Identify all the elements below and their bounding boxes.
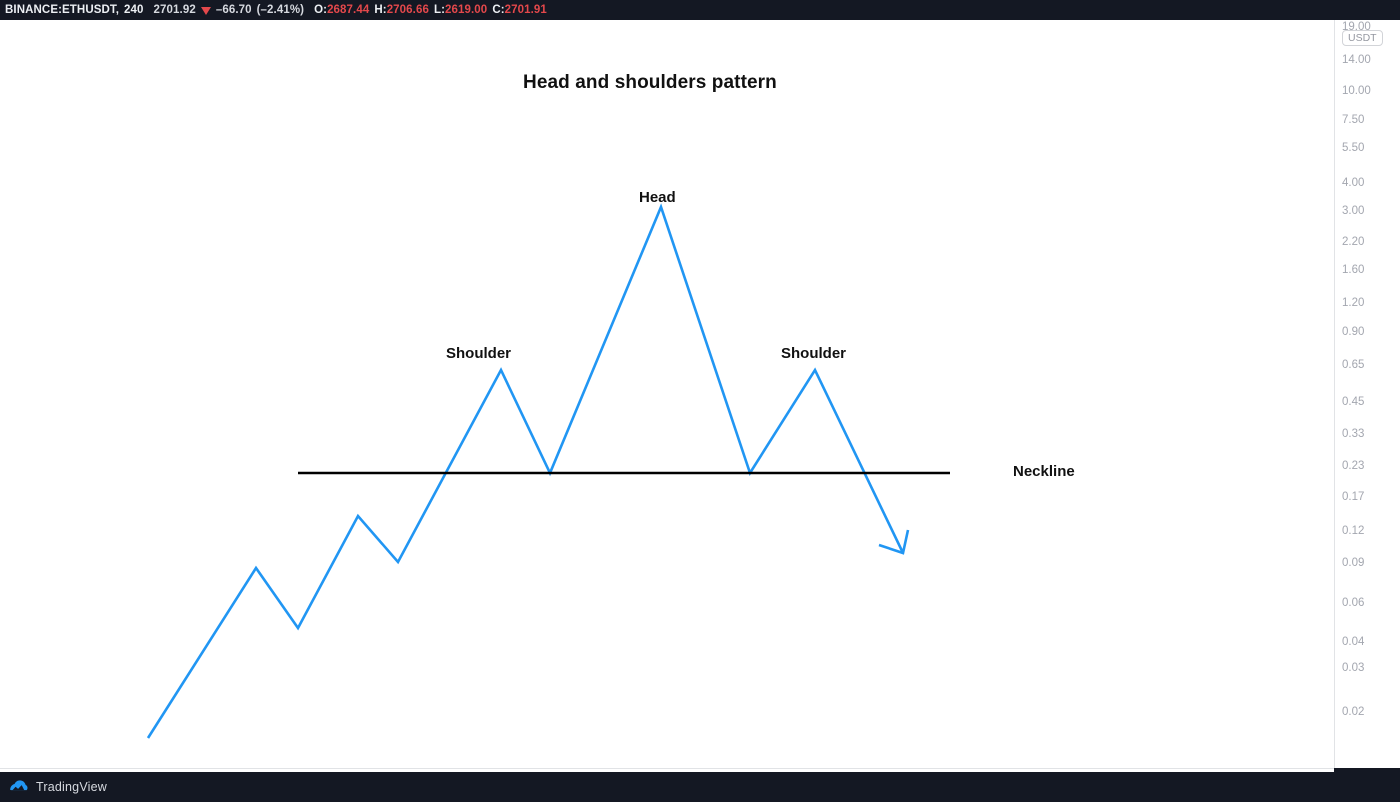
price-tick: 0.04: [1342, 636, 1364, 648]
price-tick: 0.65: [1342, 359, 1364, 371]
price-tick: 0.09: [1342, 557, 1364, 569]
chart-plot-area[interactable]: Head and shoulders pattern Head Shoulder…: [0, 20, 1334, 768]
price-tick: 5.50: [1342, 142, 1364, 154]
interval-label[interactable]: 240: [124, 4, 144, 16]
price-tick: 0.33: [1342, 428, 1364, 440]
price-tick: 0.17: [1342, 491, 1364, 503]
low-value: 2619.00: [445, 4, 487, 16]
pattern-drawing-svg: [0, 20, 1334, 768]
neckline-label: Neckline: [1013, 463, 1075, 480]
down-triangle-icon: [201, 7, 211, 15]
price-tick: 10.00: [1342, 85, 1371, 97]
price-tick: 14.00: [1342, 54, 1371, 66]
last-price: 2701.92: [154, 4, 196, 16]
head-label: Head: [639, 189, 676, 206]
symbol-legend-bar: BINANCE:ETHUSDT, 240 2701.92 –66.70 (–2.…: [0, 0, 1400, 20]
close-key: C:: [492, 4, 504, 16]
brand-label: TradingView: [36, 780, 107, 794]
price-tick: 2.20: [1342, 236, 1364, 248]
low-key: L:: [434, 4, 445, 16]
right-shoulder-label: Shoulder: [781, 345, 846, 362]
price-tick: 0.02: [1342, 706, 1364, 718]
open-key: O:: [314, 4, 327, 16]
price-tick: 0.12: [1342, 525, 1364, 537]
left-shoulder-label: Shoulder: [446, 345, 511, 362]
price-tick: 1.60: [1342, 264, 1364, 276]
close-value: 2701.91: [505, 4, 547, 16]
symbol-ticker[interactable]: BINANCE:ETHUSDT,: [5, 4, 119, 16]
price-tick: 0.90: [1342, 326, 1364, 338]
high-key: H:: [374, 4, 386, 16]
tradingview-chart-window: BINANCE:ETHUSDT, 240 2701.92 –66.70 (–2.…: [0, 0, 1400, 802]
price-tick: 0.23: [1342, 460, 1364, 472]
change-percent: (–2.41%): [257, 4, 304, 16]
price-tick: 0.06: [1342, 597, 1364, 609]
price-tick: 19.00: [1342, 21, 1371, 33]
price-tick: 0.45: [1342, 396, 1364, 408]
open-value: 2687.44: [327, 4, 369, 16]
price-tick: 0.03: [1342, 662, 1364, 674]
price-tick: 1.20: [1342, 297, 1364, 309]
price-tick: 4.00: [1342, 177, 1364, 189]
price-tick: 7.50: [1342, 114, 1364, 126]
brand-bar: TradingView: [0, 772, 1400, 802]
chart-title: Head and shoulders pattern: [523, 72, 777, 94]
price-axis[interactable]: USDT 19.0014.0010.007.505.504.003.002.20…: [1334, 20, 1400, 768]
price-tick: 3.00: [1342, 205, 1364, 217]
high-value: 2706.66: [387, 4, 429, 16]
tradingview-logo-icon: [8, 777, 28, 797]
change-absolute: –66.70: [216, 4, 252, 16]
